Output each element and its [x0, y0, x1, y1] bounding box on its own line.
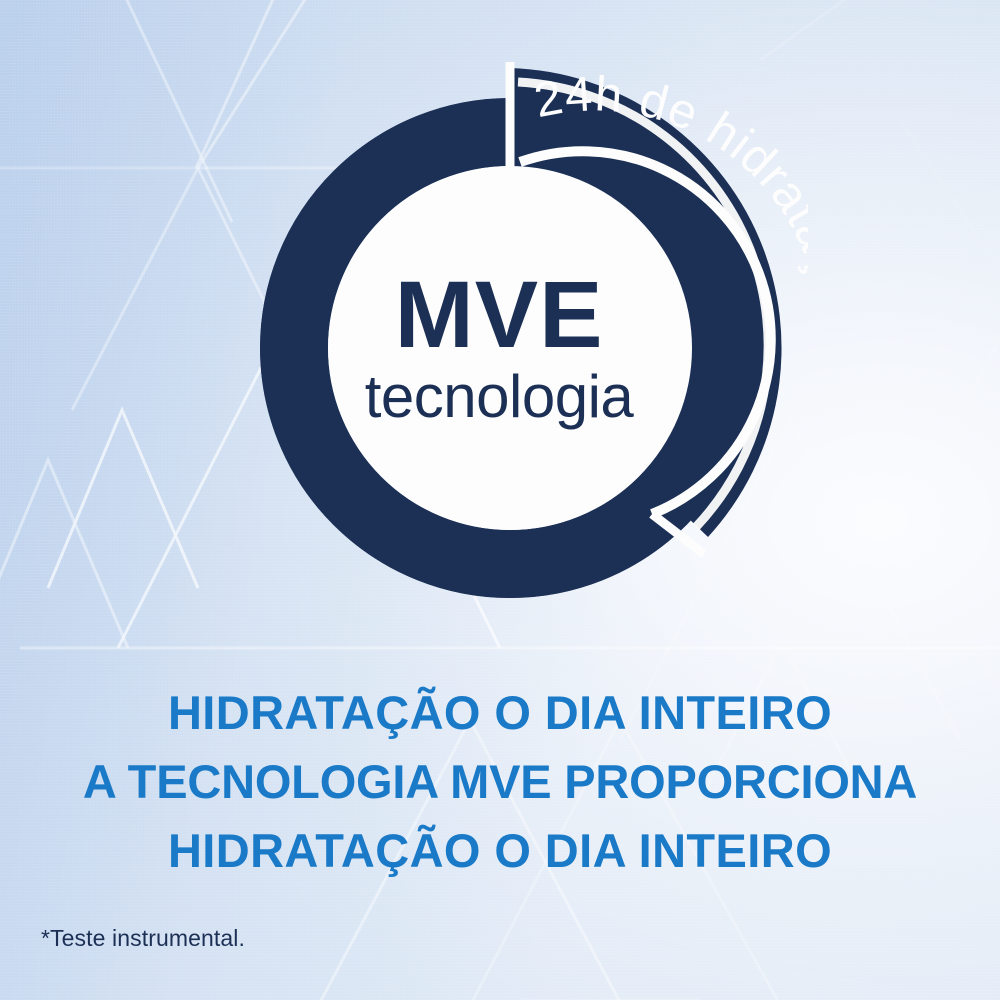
footnote-text: *Teste instrumental.: [41, 925, 245, 952]
headline-line-2: A TECNOLOGIA MVE PROPORCIONA: [0, 747, 1000, 816]
product-claim-poster: 24h de hidratação* MVE tecnologia HIDRAT…: [0, 0, 1000, 1000]
mve-badge-graphic: 24h de hidratação*: [228, 52, 808, 642]
headline-line-3: HIDRATAÇÃO O DIA INTEIRO: [0, 816, 1000, 885]
badge-inner-disc: [328, 166, 692, 530]
headline-block: HIDRATAÇÃO O DIA INTEIRO A TECNOLOGIA MV…: [0, 678, 1000, 885]
headline-line-1: HIDRATAÇÃO O DIA INTEIRO: [0, 678, 1000, 747]
mve-badge: 24h de hidratação*: [228, 52, 808, 642]
